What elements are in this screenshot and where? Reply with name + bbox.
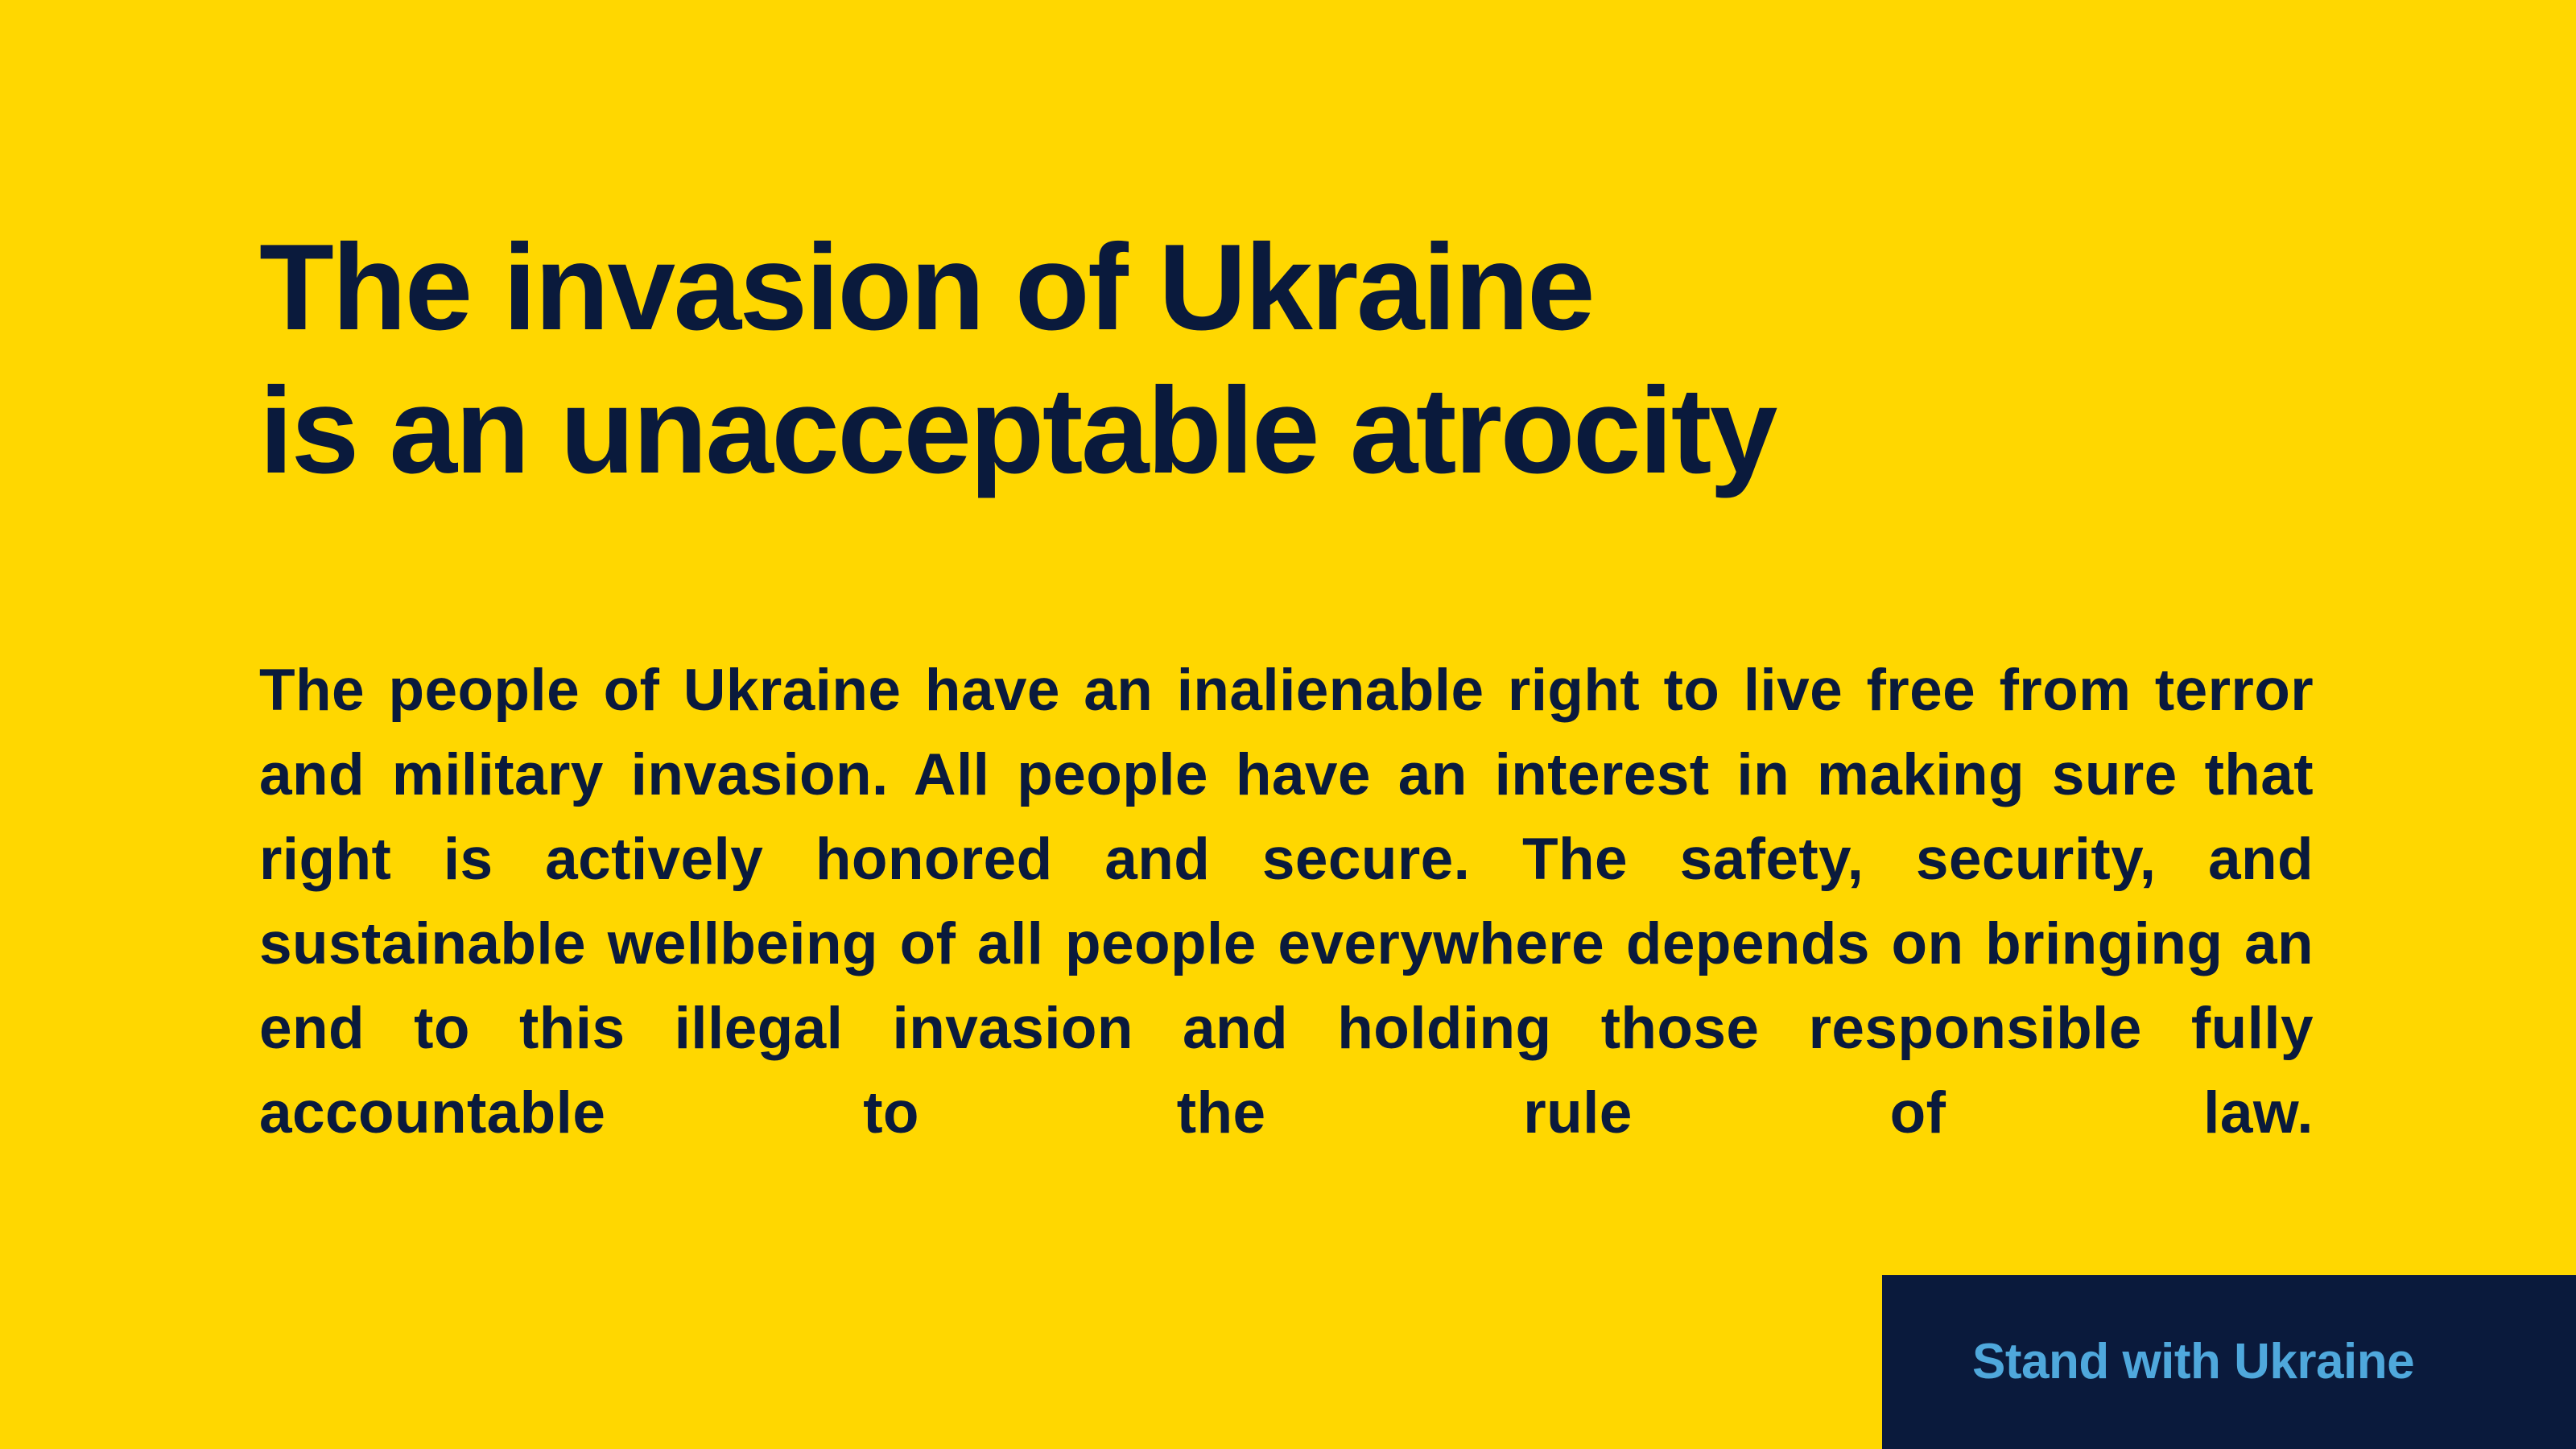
- body-paragraph: The people of Ukraine have an inalienabl…: [259, 648, 2314, 1240]
- stand-with-ukraine-label: Stand with Ukraine: [1882, 1334, 2414, 1390]
- poster-canvas: The invasion of Ukraine is an unacceptab…: [0, 0, 2576, 1449]
- page-title: The invasion of Ukraine is an unacceptab…: [259, 216, 2320, 502]
- stand-with-ukraine-banner[interactable]: Stand with Ukraine: [1882, 1275, 2576, 1449]
